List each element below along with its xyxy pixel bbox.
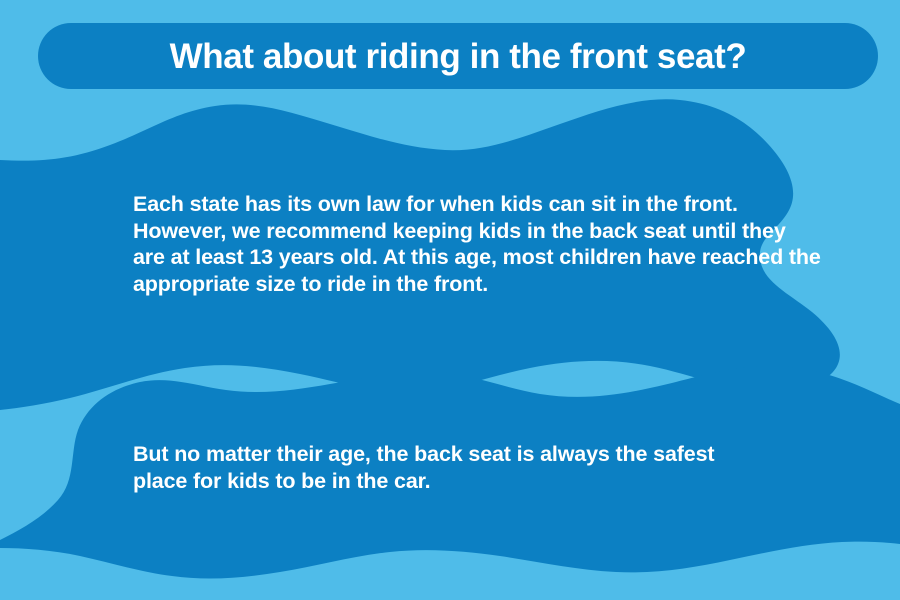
header-title-pill: What about riding in the front seat?: [38, 23, 878, 89]
page-title: What about riding in the front seat?: [170, 39, 747, 74]
paragraph-back-seat-safest: But no matter their age, the back seat i…: [133, 441, 733, 494]
wave-background-graphic: [0, 0, 900, 600]
infographic-poster: What about riding in the front seat? Eac…: [0, 0, 900, 600]
paragraph-front-seat-law: Each state has its own law for when kids…: [133, 191, 823, 297]
